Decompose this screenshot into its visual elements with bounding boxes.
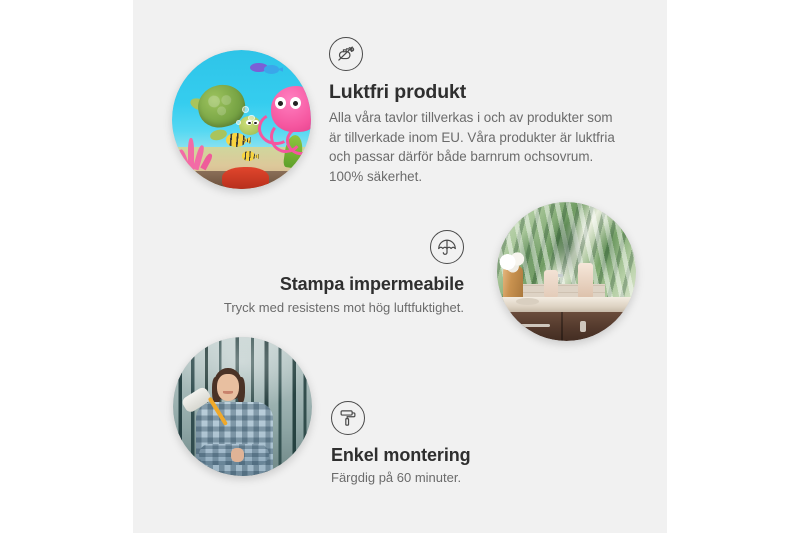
coral-plant — [179, 133, 215, 169]
woman-figure — [192, 368, 275, 476]
umbrella-icon — [430, 230, 464, 264]
bathroom-botanical-photo — [497, 202, 636, 341]
soap-dish — [516, 298, 538, 305]
bottle — [544, 270, 558, 298]
feature-odour-free: Luktfri produkt Alla våra tavlor tillver… — [329, 37, 625, 186]
blue-fish — [264, 65, 279, 73]
bottle — [578, 263, 593, 299]
octopus-character — [258, 86, 311, 150]
paint-roller-icon — [331, 401, 365, 435]
crab — [222, 167, 269, 189]
feature-title: Luktfri produkt — [329, 80, 625, 104]
feature-body: Alla våra tavlor tillverkas i och av pro… — [329, 108, 625, 186]
feature-body: Tryck med resistens mot hög luftfuktighe… — [205, 299, 464, 318]
feature-easy-mounting: Enkel montering Färgdig på 60 minuter. — [331, 401, 581, 487]
flowers — [497, 249, 530, 274]
yellow-fish-large — [226, 133, 245, 147]
underwater-cartoon-photo — [172, 50, 311, 189]
bubble — [242, 106, 250, 114]
feature-title: Enkel montering — [331, 444, 581, 467]
bubble — [236, 120, 241, 125]
woman-paint-roller-forest-photo — [173, 337, 312, 476]
vanity-cabinet — [497, 312, 636, 341]
feature-title: Stampa impermeabile — [205, 273, 464, 296]
product-feature-banner: Luktfri produkt Alla våra tavlor tillver… — [0, 0, 800, 533]
no-fragrance-icon — [329, 37, 363, 71]
feature-body: Färgdig på 60 minuter. — [331, 469, 581, 488]
feature-waterproof-print: Stampa impermeabile Tryck med resistens … — [205, 230, 464, 317]
